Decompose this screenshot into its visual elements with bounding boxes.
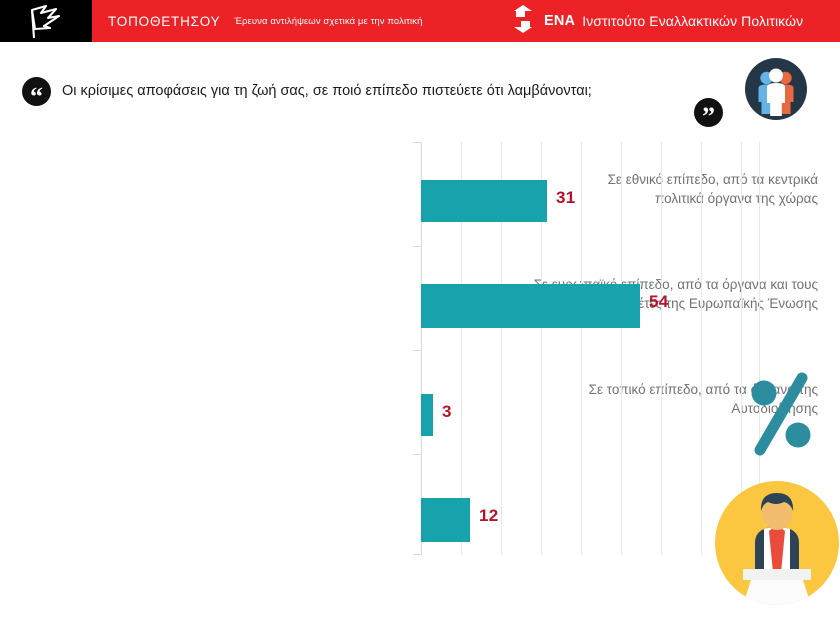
bar-value-0: 31 [556, 188, 576, 208]
ena-name: ΕΝΑ [544, 13, 575, 29]
bar-chart: Σε εθνικό επίπεδο, από τα κεντρικά πολιτ… [0, 130, 840, 560]
bar-2 [421, 394, 433, 436]
bar-value-2: 3 [442, 402, 452, 422]
axis-tick [413, 454, 421, 455]
ena-description: Ινστιτούτο Εναλλακτικών Πολιτικών [582, 13, 803, 29]
axis-tick [413, 350, 421, 351]
gridline [661, 142, 662, 555]
app-header: ΤΟΠΟΘΕΤΗΣΟΥ Έρευνα αντιλήψεων σχετικά με… [0, 0, 840, 42]
axis-tick [413, 246, 421, 247]
ena-brand: ΕΝΑ Ινστιτούτο Εναλλακτικών Πολιτικών [512, 0, 803, 42]
bar-1 [421, 284, 640, 328]
flag-logo-icon [26, 4, 66, 45]
question-text: Οι κρίσιμες αποφάσεις για τη ζωή σας, σε… [62, 81, 692, 101]
gridline [621, 142, 622, 555]
bar-0 [421, 180, 547, 222]
three-people-icon [745, 58, 807, 120]
brand-subtitle: Έρευνα αντιλήψεων σχετικά με την πολιτικ… [234, 16, 422, 27]
plot-area: 31 54 3 12 [421, 142, 761, 555]
percent-symbol-icon [742, 372, 820, 456]
bar-3 [421, 498, 470, 542]
axis-tick [413, 142, 421, 143]
ena-arrows-icon [512, 4, 534, 39]
brand-logo-box [0, 0, 92, 42]
gridline [581, 142, 582, 555]
axis-tick [413, 554, 421, 555]
brand-title: ΤΟΠΟΘΕΤΗΣΟΥ [108, 14, 220, 29]
gridline [701, 142, 702, 555]
speaker-at-podium-icon [715, 481, 839, 605]
bar-value-3: 12 [479, 506, 499, 526]
bar-value-1: 54 [649, 292, 669, 312]
open-quote-icon: “ [22, 77, 51, 106]
close-quote-icon: ” [694, 98, 723, 127]
